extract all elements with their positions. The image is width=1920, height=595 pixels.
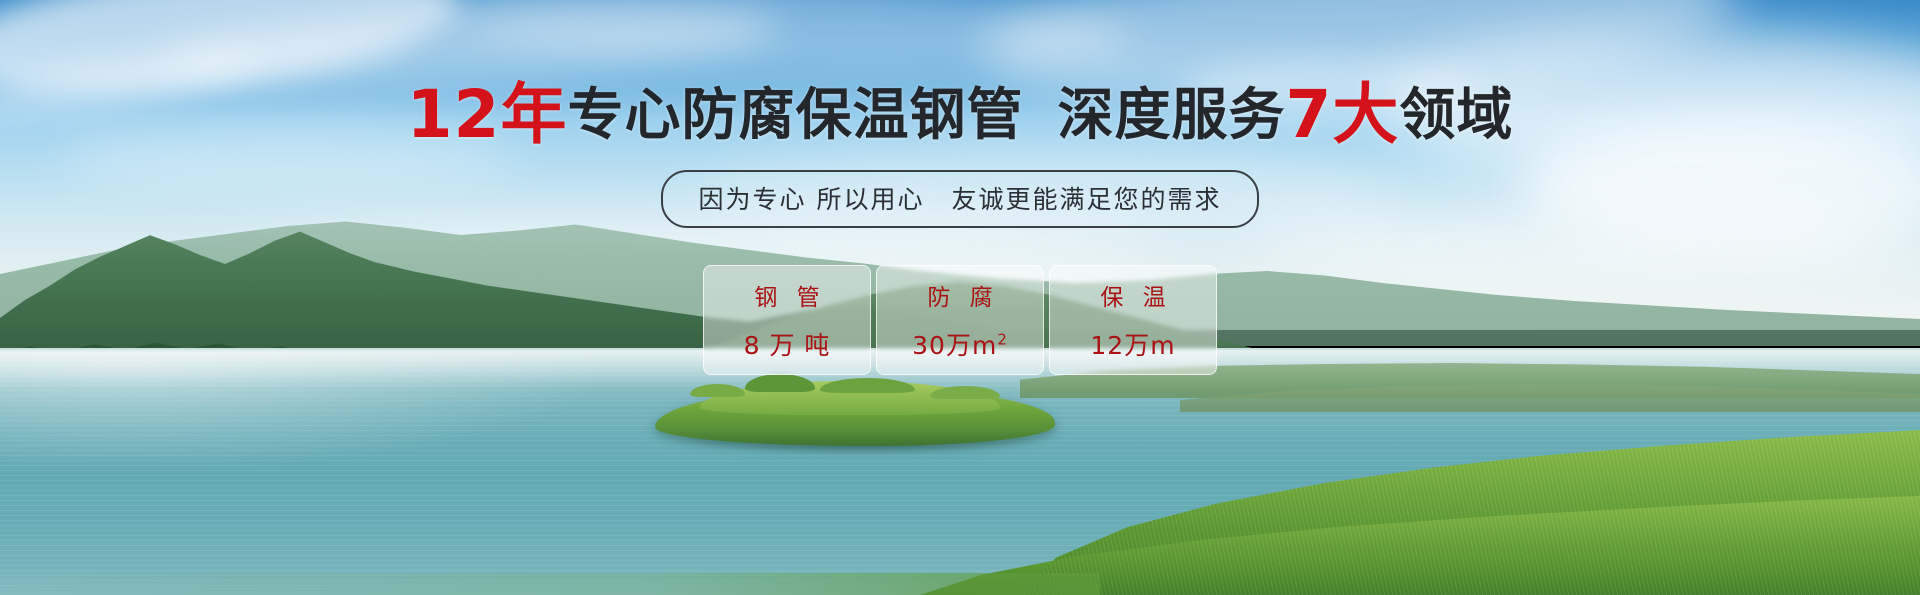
stat-card-group: 钢 管 8 万 吨 防 腐 30万m2 保 温 12万m <box>0 265 1920 375</box>
headline-years-unit: 年 <box>500 76 567 153</box>
subtitle-pill: 因为专心 所以用心 友诚更能满足您的需求 <box>661 170 1260 228</box>
grass-bottom-strip <box>0 573 1100 595</box>
headline-fields-number: 7 <box>1285 76 1332 153</box>
headline-years-number: 12 <box>407 76 501 153</box>
hero-banner: 12年专心防腐保温钢管深度服务7大领域 因为专心 所以用心 友诚更能满足您的需求… <box>0 0 1920 595</box>
headline-service-text: 深度服务 <box>1057 83 1285 148</box>
stat-card-value-exponent: 2 <box>997 331 1008 349</box>
subtitle-container: 因为专心 所以用心 友诚更能满足您的需求 <box>0 170 1920 228</box>
headline-main-text: 专心防腐保温钢管 <box>567 83 1023 148</box>
headline: 12年专心防腐保温钢管深度服务7大领域 <box>0 82 1920 148</box>
stat-card-insulation[interactable]: 保 温 12万m <box>1049 265 1217 375</box>
stat-card-value: 8 万 吨 <box>744 326 831 362</box>
stat-card-value-text: 12万m <box>1090 331 1175 360</box>
stat-card-value: 12万m <box>1090 326 1175 362</box>
stat-card-value-text: 30万m <box>912 331 997 360</box>
stat-card-label: 钢 管 <box>748 278 825 312</box>
headline-fields-unit: 大 <box>1332 76 1399 153</box>
stat-card-value-text: 8 万 吨 <box>744 331 831 360</box>
stat-card-anticorrosion[interactable]: 防 腐 30万m2 <box>876 265 1044 375</box>
stat-card-steel-pipe[interactable]: 钢 管 8 万 吨 <box>703 265 871 375</box>
stat-card-label: 防 腐 <box>921 278 998 312</box>
stat-card-value: 30万m2 <box>912 326 1008 362</box>
headline-fields-text: 领域 <box>1399 83 1513 148</box>
stat-card-label: 保 温 <box>1094 278 1171 312</box>
